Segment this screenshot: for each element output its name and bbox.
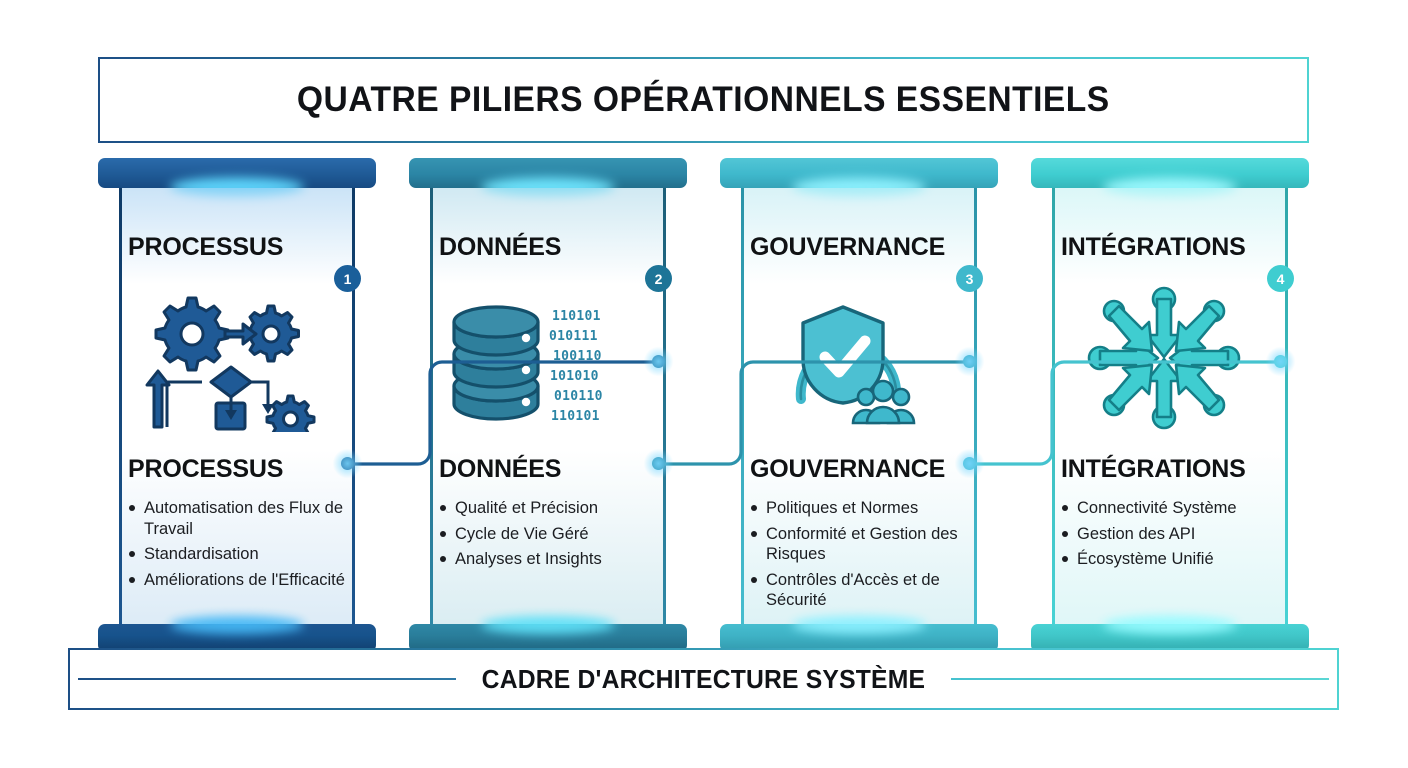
pillar-heading-top: GOUVERNANCE xyxy=(750,233,980,262)
connector-node-in-4 xyxy=(1274,355,1287,368)
footer-title: CADRE D'ARCHITECTURE SYSTÈME xyxy=(482,664,925,695)
pillar-badge-3: 3 xyxy=(956,265,983,292)
database-binary-icon: 110101 010111 100110 101010 010110 11010… xyxy=(435,283,649,433)
list-item: Contrôles d'Accès et de Sécurité xyxy=(750,570,978,611)
connector-node-in-3 xyxy=(963,355,976,368)
list-item: Écosystème Unifié xyxy=(1061,549,1289,570)
bottom-cap-glow xyxy=(792,616,925,634)
converging-arrows-icon xyxy=(1057,283,1271,433)
pillar-rail-left xyxy=(119,188,122,624)
list-item: Cycle de Vie Géré xyxy=(439,524,667,545)
bottom-cap-glow xyxy=(481,616,614,634)
pillar-top-cap xyxy=(98,158,376,188)
badge-number: 3 xyxy=(966,271,974,287)
svg-text:100110: 100110 xyxy=(553,349,602,364)
svg-text:010111: 010111 xyxy=(549,329,598,344)
pillar-column-processus: PROCESSUS xyxy=(98,158,376,650)
pillar-badge-4: 4 xyxy=(1267,265,1294,292)
list-item: Qualité et Précision xyxy=(439,498,667,519)
connector-node-out-2 xyxy=(652,457,665,470)
list-item: Connectivité Système xyxy=(1061,498,1289,519)
footer-rule-left xyxy=(78,678,456,680)
list-item: Conformité et Gestion des Risques xyxy=(750,524,978,565)
svg-text:010110: 010110 xyxy=(554,389,603,404)
badge-number: 1 xyxy=(344,271,352,287)
list-item: Gestion des API xyxy=(1061,524,1289,545)
pillar-column-integrations: INTÉGRATIONS xyxy=(1031,158,1309,650)
shield-check-people-icon xyxy=(746,283,960,433)
pillar-heading-bottom: INTÉGRATIONS xyxy=(1061,455,1301,484)
list-item: Standardisation xyxy=(128,544,356,565)
pillar-heading-top: DONNÉES xyxy=(439,233,669,262)
footer-banner: CADRE D'ARCHITECTURE SYSTÈME xyxy=(68,648,1339,710)
badge-number: 4 xyxy=(1277,271,1285,287)
pillar-column-donnees: DONNÉES 110101 010111 100110 xyxy=(409,158,687,650)
pillar-rail-left xyxy=(741,188,744,624)
pillar-badge-1: 1 xyxy=(334,265,361,292)
pillar-bullet-list: Politiques et Normes Conformité et Gesti… xyxy=(750,498,978,616)
list-item: Améliorations de l'Efficacité xyxy=(128,570,356,591)
connector-node-out-1 xyxy=(341,457,354,470)
svg-text:110101: 110101 xyxy=(552,309,601,324)
svg-text:101010: 101010 xyxy=(550,369,599,384)
connector-node-in-2 xyxy=(652,355,665,368)
page-title: QUATRE PILIERS OPÉRATIONNELS ESSENTIELS xyxy=(297,80,1110,120)
pillar-bullet-list: Qualité et Précision Cycle de Vie Géré A… xyxy=(439,498,667,575)
pillar-top-cap xyxy=(1031,158,1309,188)
pillar-rail-left xyxy=(430,188,433,624)
pillar-heading-top: INTÉGRATIONS xyxy=(1061,233,1291,262)
connector-node-out-3 xyxy=(963,457,976,470)
svg-text:110101: 110101 xyxy=(551,409,600,424)
list-item: Automatisation des Flux de Travail xyxy=(128,498,356,539)
pillar-top-cap xyxy=(409,158,687,188)
list-item: Analyses et Insights xyxy=(439,549,667,570)
pillar-bullet-list: Connectivité Système Gestion des API Éco… xyxy=(1061,498,1289,575)
pillar-bullet-list: Automatisation des Flux de Travail Stand… xyxy=(128,498,356,595)
infographic-canvas: QUATRE PILIERS OPÉRATIONNELS ESSENTIELS … xyxy=(0,0,1408,768)
pillar-heading-top: PROCESSUS xyxy=(128,233,358,262)
pillar-rail-left xyxy=(1052,188,1055,624)
pillar-badge-2: 2 xyxy=(645,265,672,292)
title-banner: QUATRE PILIERS OPÉRATIONNELS ESSENTIELS xyxy=(98,57,1309,143)
badge-number: 2 xyxy=(655,271,663,287)
pillar-column-gouvernance: GOUVERNANCE GOUVERNANCE Politiques et xyxy=(720,158,998,650)
list-item: Politiques et Normes xyxy=(750,498,978,519)
bottom-cap-glow xyxy=(1103,616,1236,634)
pillar-top-cap xyxy=(720,158,998,188)
bottom-cap-glow xyxy=(170,616,303,634)
gears-flowchart-icon xyxy=(124,283,338,433)
footer-rule-right xyxy=(951,678,1329,680)
